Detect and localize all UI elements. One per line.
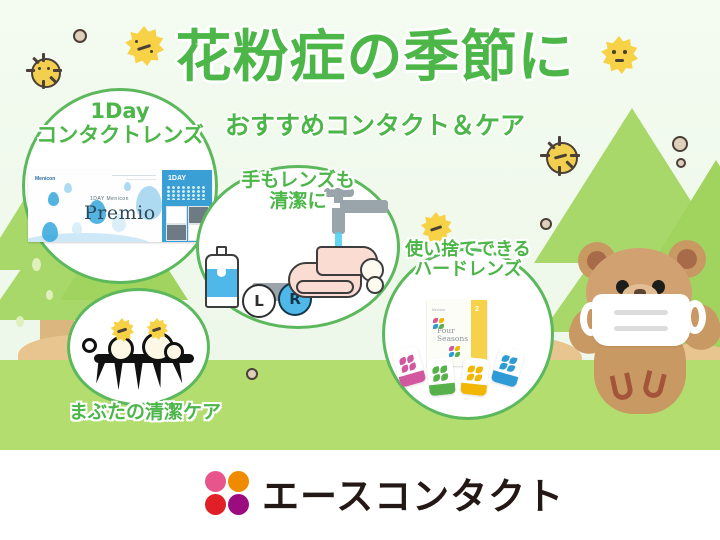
dust-particle-icon [73, 29, 87, 43]
feature-label-oneday: 1Day コンタクトレンズ [22, 100, 218, 147]
feature-label-hard-lens-line1: 使い捨てできる [378, 240, 558, 260]
bear-mascot-with-mask-icon [572, 236, 720, 422]
eyelid-eyelash-icon [90, 318, 198, 390]
feature-label-hard-lens: 使い捨てできる ハードレンズ [378, 240, 558, 280]
lens-solution-bottle-icon [205, 246, 239, 308]
flower-icon [466, 365, 484, 383]
product-side-number: 2 [475, 306, 479, 313]
washing-hands-icon [282, 240, 392, 312]
product-panel-text: 1DAY [168, 175, 186, 182]
flower-icon [398, 354, 418, 374]
dust-particle-icon [676, 158, 686, 168]
logo-dot-purple [228, 494, 249, 515]
lens-case-left-label: L [242, 284, 276, 318]
pollen-particle-icon [124, 26, 164, 66]
product-brand: Menicon [35, 176, 55, 182]
logo-dot-pink [205, 471, 226, 492]
feature-label-eyelid-care: まぶたの清潔ケア [55, 402, 235, 423]
promotional-banner: 花粉症の季節に おすすめコンタクト＆ケア [0, 0, 720, 540]
product-fs-name2: Seasons [437, 334, 468, 343]
pollen-particle-icon [600, 36, 638, 74]
logo-dot-orange [228, 471, 249, 492]
dust-particle-icon [540, 218, 552, 230]
feature-label-clean-hands-line2: 清潔に [196, 191, 400, 212]
feature-label-clean-hands: 手もレンズも 清潔に [196, 170, 400, 213]
product-name: Premio [84, 202, 156, 224]
feature-label-oneday-line2: コンタクトレンズ [22, 124, 218, 148]
product-four-seasons-box: 2 Menicon Four Seasons [427, 300, 487, 366]
pollen-particle-icon [546, 142, 578, 174]
product-premio-box: Menicon 1DAY Menicon Premio 1DAY [28, 170, 212, 242]
dust-particle-icon [246, 368, 258, 380]
pollen-particle-icon [31, 58, 61, 88]
page-subtitle: おすすめコンタクト＆ケア [175, 106, 575, 142]
pollen-particle-icon [146, 318, 168, 340]
flower-icon [432, 365, 450, 383]
blister-pack [460, 357, 490, 397]
feature-label-hard-lens-line2: ハードレンズ [378, 260, 558, 280]
flower-icon [499, 354, 519, 374]
blister-pack [426, 357, 456, 397]
pollen-particle-icon [110, 318, 134, 342]
flower-icon [433, 318, 445, 330]
dust-particle-icon [82, 338, 97, 353]
logo-dot-red [205, 494, 226, 515]
flower-icon [449, 346, 461, 358]
ace-contact-logo-icon[interactable]: エースコンタクト [205, 466, 564, 520]
feature-label-eyelid-care-line1: まぶたの清潔ケア [55, 402, 235, 423]
product-fs-brand: Menicon [432, 308, 445, 312]
logo-dots [205, 471, 249, 515]
brand-name: エースコンタクト [262, 466, 564, 520]
page-title: 花粉症の季節に [175, 30, 575, 86]
feature-label-clean-hands-line1: 手もレンズも [196, 170, 400, 191]
dust-particle-icon [672, 136, 688, 152]
feature-label-oneday-line1: 1Day [22, 100, 218, 124]
